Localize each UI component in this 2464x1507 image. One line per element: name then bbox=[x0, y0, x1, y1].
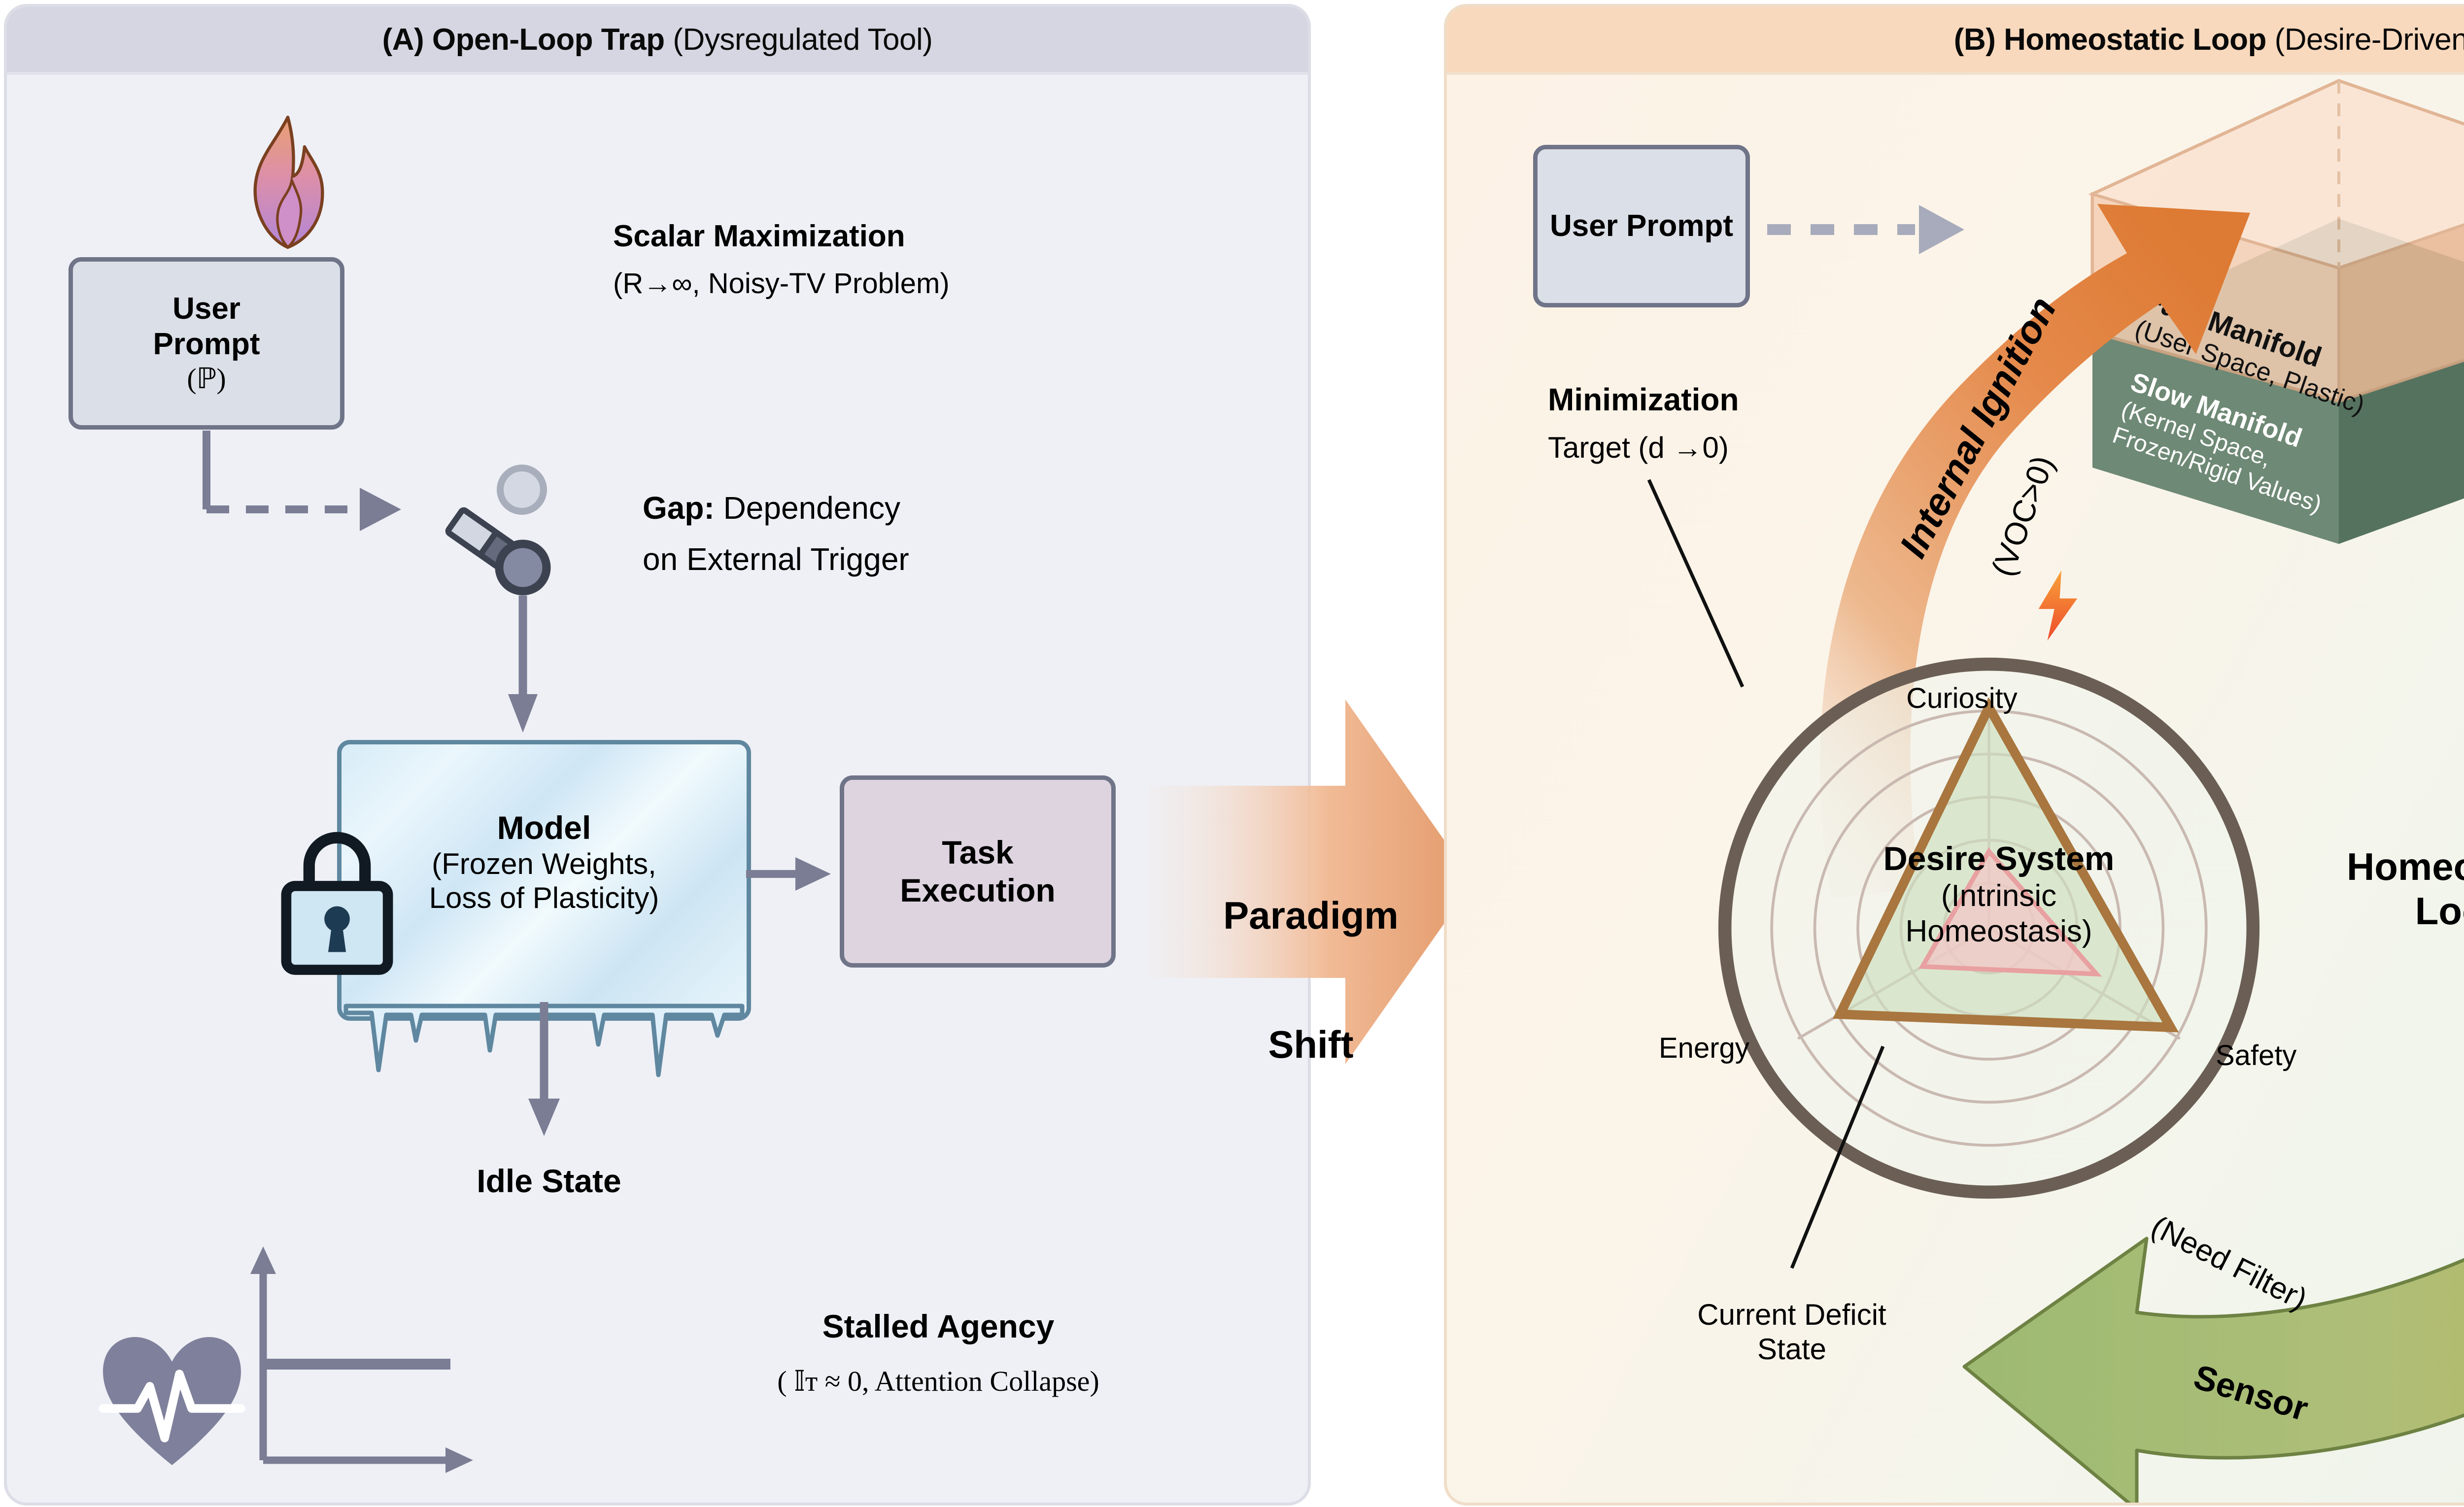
gap-lead: Gap: bbox=[643, 490, 715, 526]
loop-line1: Homeostatic bbox=[2265, 844, 2464, 889]
paradigm-shift-line1: Paradigm bbox=[1183, 894, 1439, 937]
desire-system-line3: Homeostasis) bbox=[1802, 914, 2196, 949]
desire-system-line2: (Intrinsic bbox=[1802, 878, 2196, 914]
gap-label: Gap: Dependency bbox=[643, 490, 900, 526]
radar-axis-label-safety: Safety bbox=[2216, 1039, 2296, 1072]
scalar-maximization-label: Scalar Maximization bbox=[613, 219, 905, 254]
paradigm-shift-label: Paradigm Shift bbox=[1183, 808, 1439, 1109]
lightning-bolt-icon bbox=[2031, 569, 2085, 642]
homeostatic-loop-label: Homeostatic Loop bbox=[2265, 844, 2464, 934]
model-to-task-arrow bbox=[746, 844, 840, 913]
paradigm-shift-line2: Shift bbox=[1183, 1023, 1439, 1066]
minimization-label: Minimization bbox=[1548, 381, 1739, 418]
gap-rest: Dependency bbox=[715, 490, 900, 526]
desire-system-label: Desire System (Intrinsic Homeostasis) bbox=[1802, 839, 2196, 949]
user-prompt-line2: Prompt bbox=[153, 327, 260, 362]
user-prompt-symbol: (ℙ) bbox=[187, 362, 226, 395]
panel-b-title: (B) Homeostatic Loop (Desire-Driven Enti… bbox=[1954, 22, 2464, 57]
flame-icon bbox=[234, 115, 342, 253]
panel-a-header: (A) Open-Loop Trap (Dysregulated Tool) bbox=[7, 7, 1308, 75]
stalled-agency-sublabel: ( 𝕀ᴛ ≈ 0, Attention Collapse) bbox=[623, 1365, 1254, 1398]
gap-label-line2: on External Trigger bbox=[643, 541, 909, 577]
loop-line2: Loop bbox=[2265, 889, 2464, 933]
heartbeat-icon bbox=[98, 1332, 246, 1470]
idle-state-label: Idle State bbox=[367, 1162, 731, 1200]
stalled-agency-chart bbox=[243, 1243, 657, 1480]
panel-b-homeostatic-loop: (B) Homeostatic Loop (Desire-Driven Enti… bbox=[1444, 4, 2464, 1506]
scalar-maximization-sublabel: (R→∞, Noisy-TV Problem) bbox=[613, 267, 950, 300]
stalled-agency-label: Stalled Agency bbox=[648, 1307, 1229, 1345]
model-to-idle-arrow bbox=[510, 1002, 588, 1150]
task-execution-box[interactable]: Task Execution bbox=[840, 775, 1116, 968]
panel-a-open-loop-trap: (A) Open-Loop Trap (Dysregulated Tool) S… bbox=[4, 4, 1311, 1506]
radar-axis-label-curiosity: Curiosity bbox=[1881, 682, 2043, 715]
panel-a-title: (A) Open-Loop Trap (Dysregulated Tool) bbox=[382, 22, 933, 57]
task-line2: Execution bbox=[900, 871, 1055, 909]
minimization-sublabel: Target (d →0) bbox=[1548, 431, 1729, 465]
user-prompt-line1: User bbox=[172, 291, 240, 327]
switch-to-model-arrow bbox=[492, 596, 561, 743]
sensor-arrow bbox=[1881, 1135, 2464, 1506]
user-prompt-box-a[interactable]: User Prompt (ℙ) bbox=[68, 257, 344, 430]
diagram-root: (A) Open-Loop Trap (Dysregulated Tool) S… bbox=[0, 0, 2464, 1507]
desire-system-title: Desire System bbox=[1802, 839, 2196, 878]
radar-axis-label-energy: Energy bbox=[1659, 1032, 1749, 1065]
task-line1: Task bbox=[942, 834, 1014, 871]
lock-icon bbox=[273, 815, 401, 977]
